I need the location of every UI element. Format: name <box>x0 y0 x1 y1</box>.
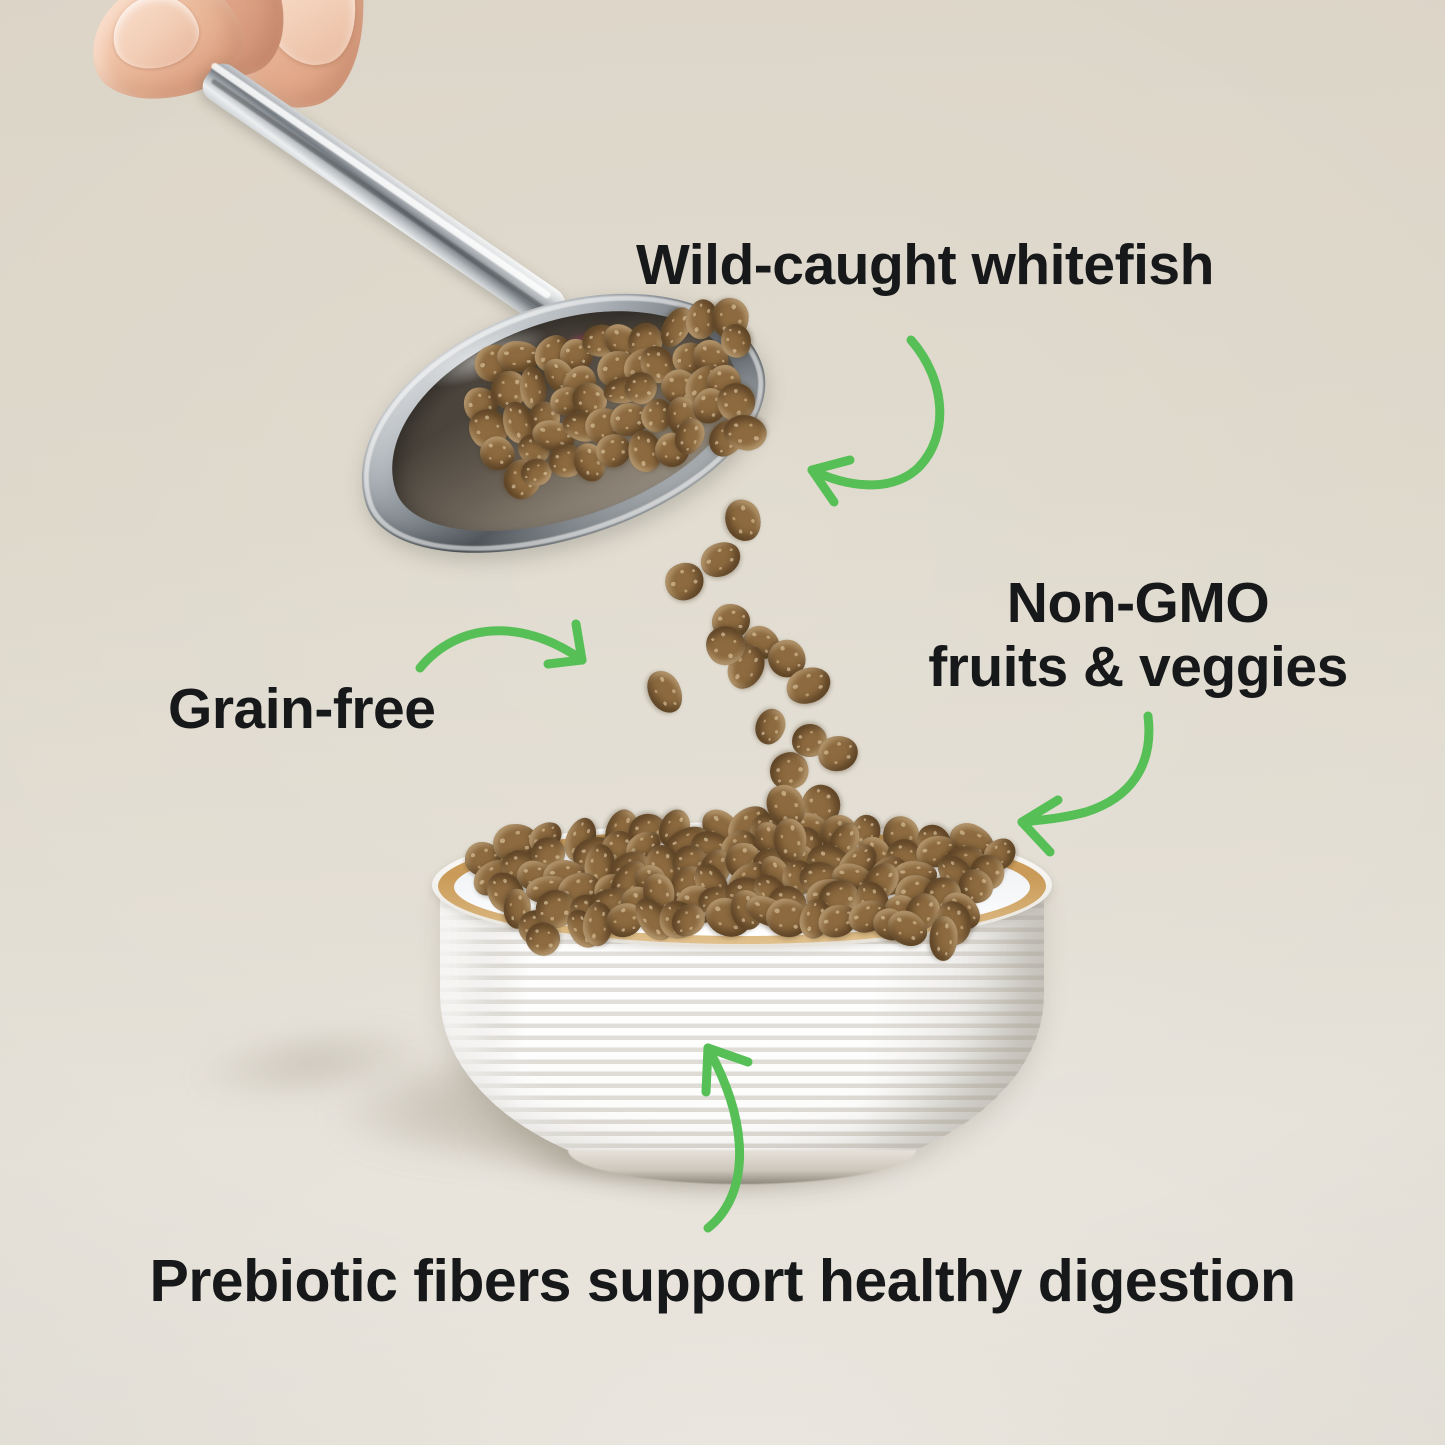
falling-kibble-piece <box>720 495 766 546</box>
product-feature-image: Wild-caught whitefish Grain-free Non-GMO… <box>0 0 1445 1445</box>
label-non-gmo-line1: Non-GMO <box>1007 571 1269 635</box>
label-prebiotic-fibers: Prebiotic fibers support healthy digesti… <box>0 1248 1445 1314</box>
falling-kibble-piece <box>750 705 790 749</box>
label-non-gmo-fruits-veggies: Non-GMO fruits & veggies <box>912 572 1364 700</box>
falling-kibble-piece <box>641 665 689 719</box>
label-wild-caught-whitefish: Wild-caught whitefish <box>636 234 1214 298</box>
kibble-in-bowl <box>466 822 1018 938</box>
arrow-to-bowl-body-icon <box>660 1022 800 1242</box>
label-non-gmo-line2: fruits & veggies <box>912 636 1364 700</box>
arrow-to-falling-kibble-icon <box>404 602 634 712</box>
arrow-to-bowl-rim-icon <box>1002 688 1202 858</box>
label-grain-free: Grain-free <box>168 678 435 742</box>
arrow-to-spoon-icon <box>778 318 988 518</box>
